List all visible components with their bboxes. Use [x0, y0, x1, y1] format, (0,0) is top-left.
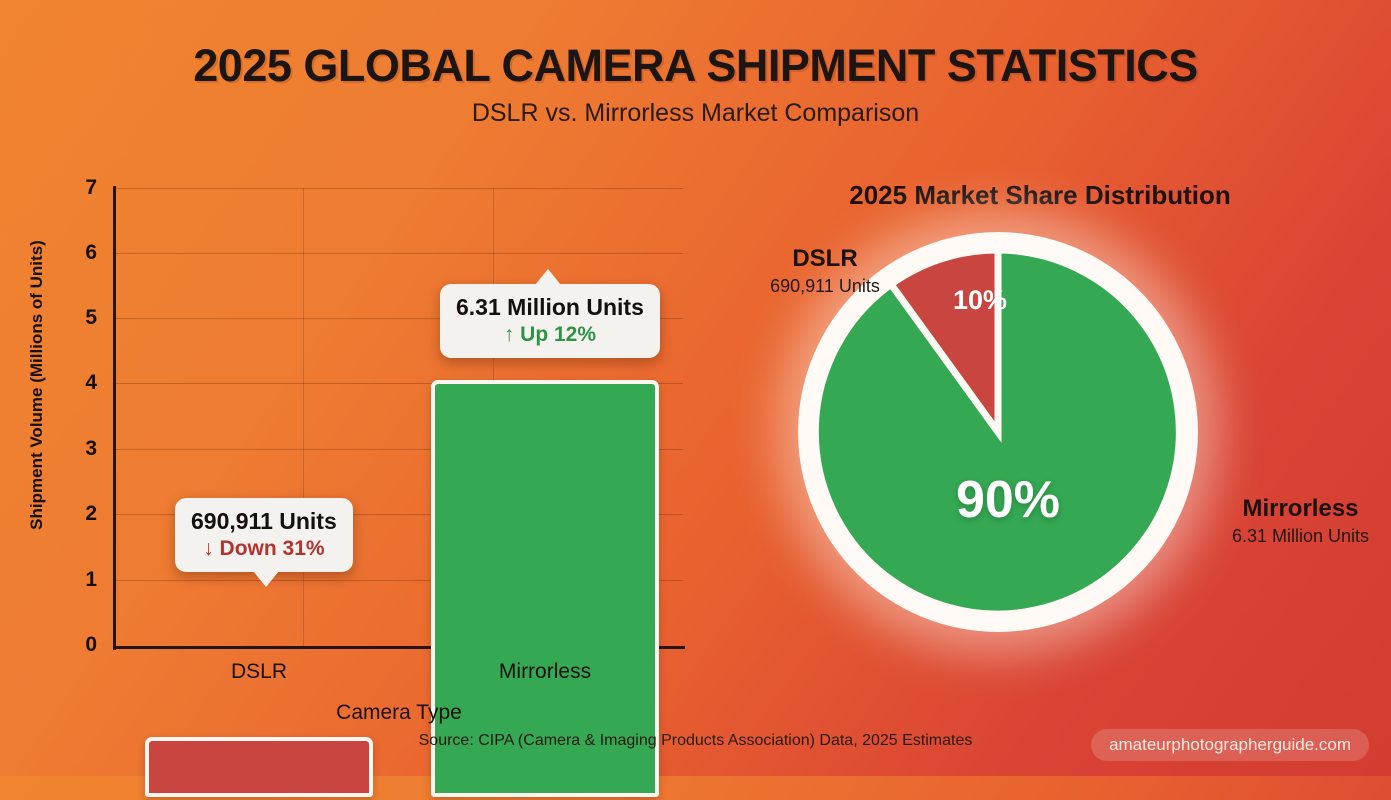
gridline-6: [113, 253, 683, 254]
callout-mirrorless-delta: ↑ Up 12%: [456, 323, 644, 347]
gridline-vertical-1: [303, 188, 304, 646]
callout-tail-icon: [535, 269, 561, 285]
arrow-down-icon: ↓: [203, 537, 214, 560]
pie-legend-dslr: DSLR 690,911 Units: [730, 245, 920, 297]
arrow-up-icon: ↑: [504, 323, 515, 346]
callout-mirrorless-value: 6.31 Million Units: [456, 294, 644, 321]
pie-legend-dslr-name: DSLR: [730, 245, 920, 273]
y-axis-line: [113, 186, 116, 650]
callout-dslr-delta-text: Down 31%: [220, 537, 325, 560]
page-title: 2025 GLOBAL CAMERA SHIPMENT STATISTICS: [0, 40, 1391, 92]
x-tick-dslr: DSLR: [139, 660, 379, 684]
bar-plot-area: 7 6 5 4 3 2 1 0 DSLR Mirrorless Camera T…: [113, 190, 683, 800]
y-axis-label: Shipment Volume (Millions of Units): [27, 220, 47, 550]
y-tick-4: 4: [57, 371, 97, 395]
pie-legend-mirrorless: Mirrorless 6.31 Million Units: [1208, 495, 1391, 547]
pie-label-mirrorless-percent: 90%: [928, 470, 1088, 530]
pie-chart-panel: 2025 Market Share Distribution 10% 90% D…: [720, 150, 1391, 720]
x-axis-label: Camera Type: [113, 701, 685, 725]
y-tick-6: 6: [57, 241, 97, 265]
callout-dslr-delta: ↓ Down 31%: [191, 537, 337, 561]
pie-legend-dslr-value: 690,911 Units: [730, 276, 920, 297]
callout-mirrorless: 6.31 Million Units ↑ Up 12%: [440, 284, 660, 358]
bar-chart-panel: Shipment Volume (Millions of Units) 7 6 …: [0, 150, 720, 720]
y-tick-2: 2: [57, 502, 97, 526]
pie-label-dslr-percent: 10%: [920, 285, 1040, 316]
watermark-badge: amateurphotographerguide.com: [1091, 729, 1369, 761]
callout-tail-icon: [253, 571, 279, 587]
y-tick-7: 7: [57, 176, 97, 200]
page-subtitle: DSLR vs. Mirrorless Market Comparison: [0, 99, 1391, 128]
callout-dslr-value: 690,911 Units: [191, 508, 337, 535]
x-tick-mirrorless: Mirrorless: [425, 660, 665, 684]
y-tick-1: 1: [57, 568, 97, 592]
y-tick-0: 0: [57, 633, 97, 657]
y-tick-3: 3: [57, 437, 97, 461]
callout-dslr: 690,911 Units ↓ Down 31%: [175, 498, 353, 572]
callout-mirrorless-delta-text: Up 12%: [520, 323, 596, 346]
y-tick-5: 5: [57, 306, 97, 330]
gridline-7: [113, 188, 683, 189]
pie-legend-mirrorless-value: 6.31 Million Units: [1208, 526, 1391, 547]
pie-chart-title: 2025 Market Share Distribution: [720, 180, 1360, 211]
pie-legend-mirrorless-name: Mirrorless: [1208, 495, 1391, 523]
